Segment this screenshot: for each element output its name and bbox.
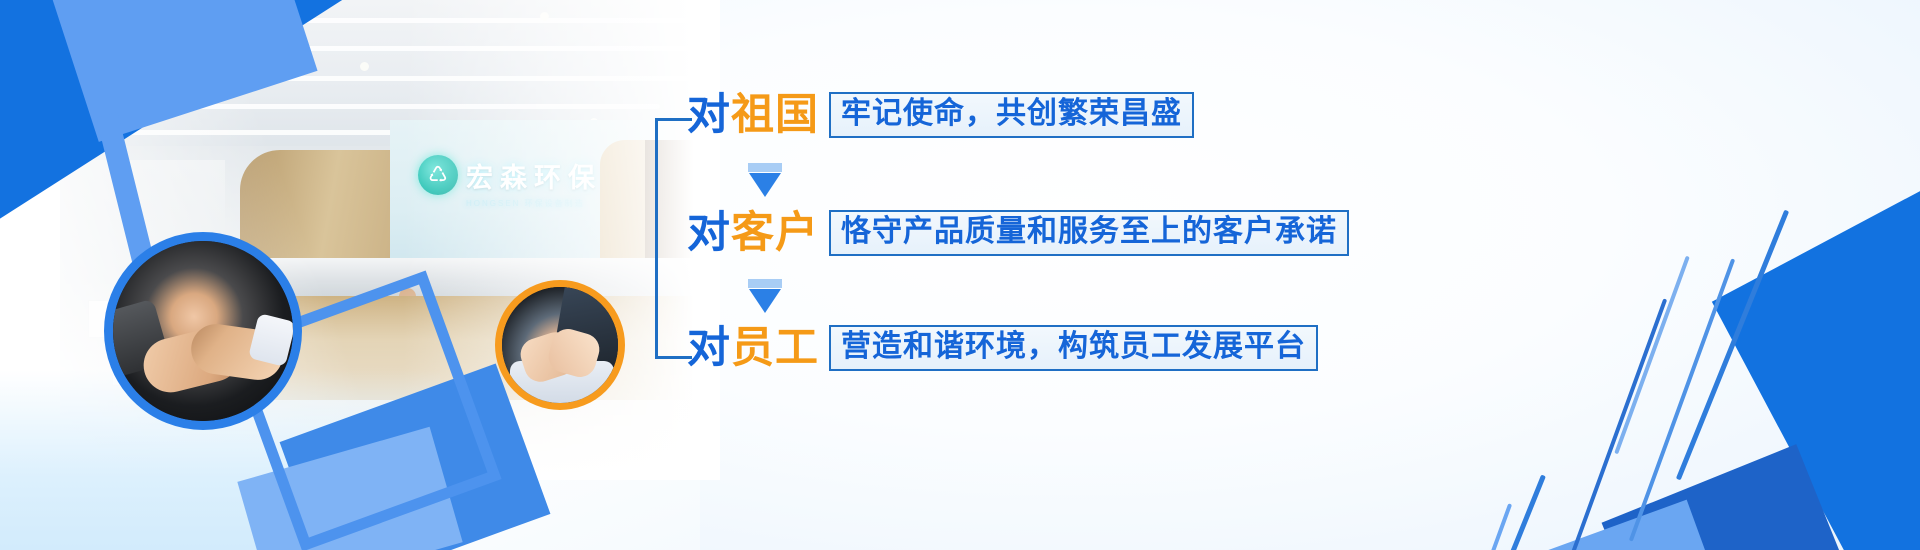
value-row-customer: 对 客户 恪守产品质量和服务至上的客户承诺 xyxy=(687,210,1349,256)
chevron-down-icon xyxy=(748,163,782,197)
applause-photo-circle xyxy=(495,280,625,410)
value-row-country: 对 祖国 牢记使命，共创繁荣昌盛 xyxy=(687,92,1194,138)
row-prefix-employee: 对 xyxy=(687,327,731,370)
row-statement-employee: 营造和谐环境，构筑员工发展平台 xyxy=(829,325,1318,371)
row-keyword-country: 祖国 xyxy=(731,94,819,137)
chevron-body xyxy=(749,289,781,313)
company-values-banner: ♺ 宏森环保 HONGSEN 环保设备制造 xyxy=(0,0,1920,550)
chevron-cap xyxy=(748,279,782,288)
row-statement-customer: 恪守产品质量和服务至上的客户承诺 xyxy=(829,210,1349,256)
chevron-body xyxy=(749,173,781,197)
row-statement-country: 牢记使命，共创繁荣昌盛 xyxy=(829,92,1194,138)
chevron-cap xyxy=(748,163,782,172)
chevron-down-icon xyxy=(748,279,782,313)
value-row-employee: 对 员工 营造和谐环境，构筑员工发展平台 xyxy=(687,325,1318,371)
row-keyword-employee: 员工 xyxy=(731,327,819,370)
row-prefix-customer: 对 xyxy=(687,212,731,255)
row-keyword-customer: 客户 xyxy=(731,212,819,255)
handshake-photo-circle xyxy=(104,232,302,430)
row-prefix-country: 对 xyxy=(687,94,731,137)
